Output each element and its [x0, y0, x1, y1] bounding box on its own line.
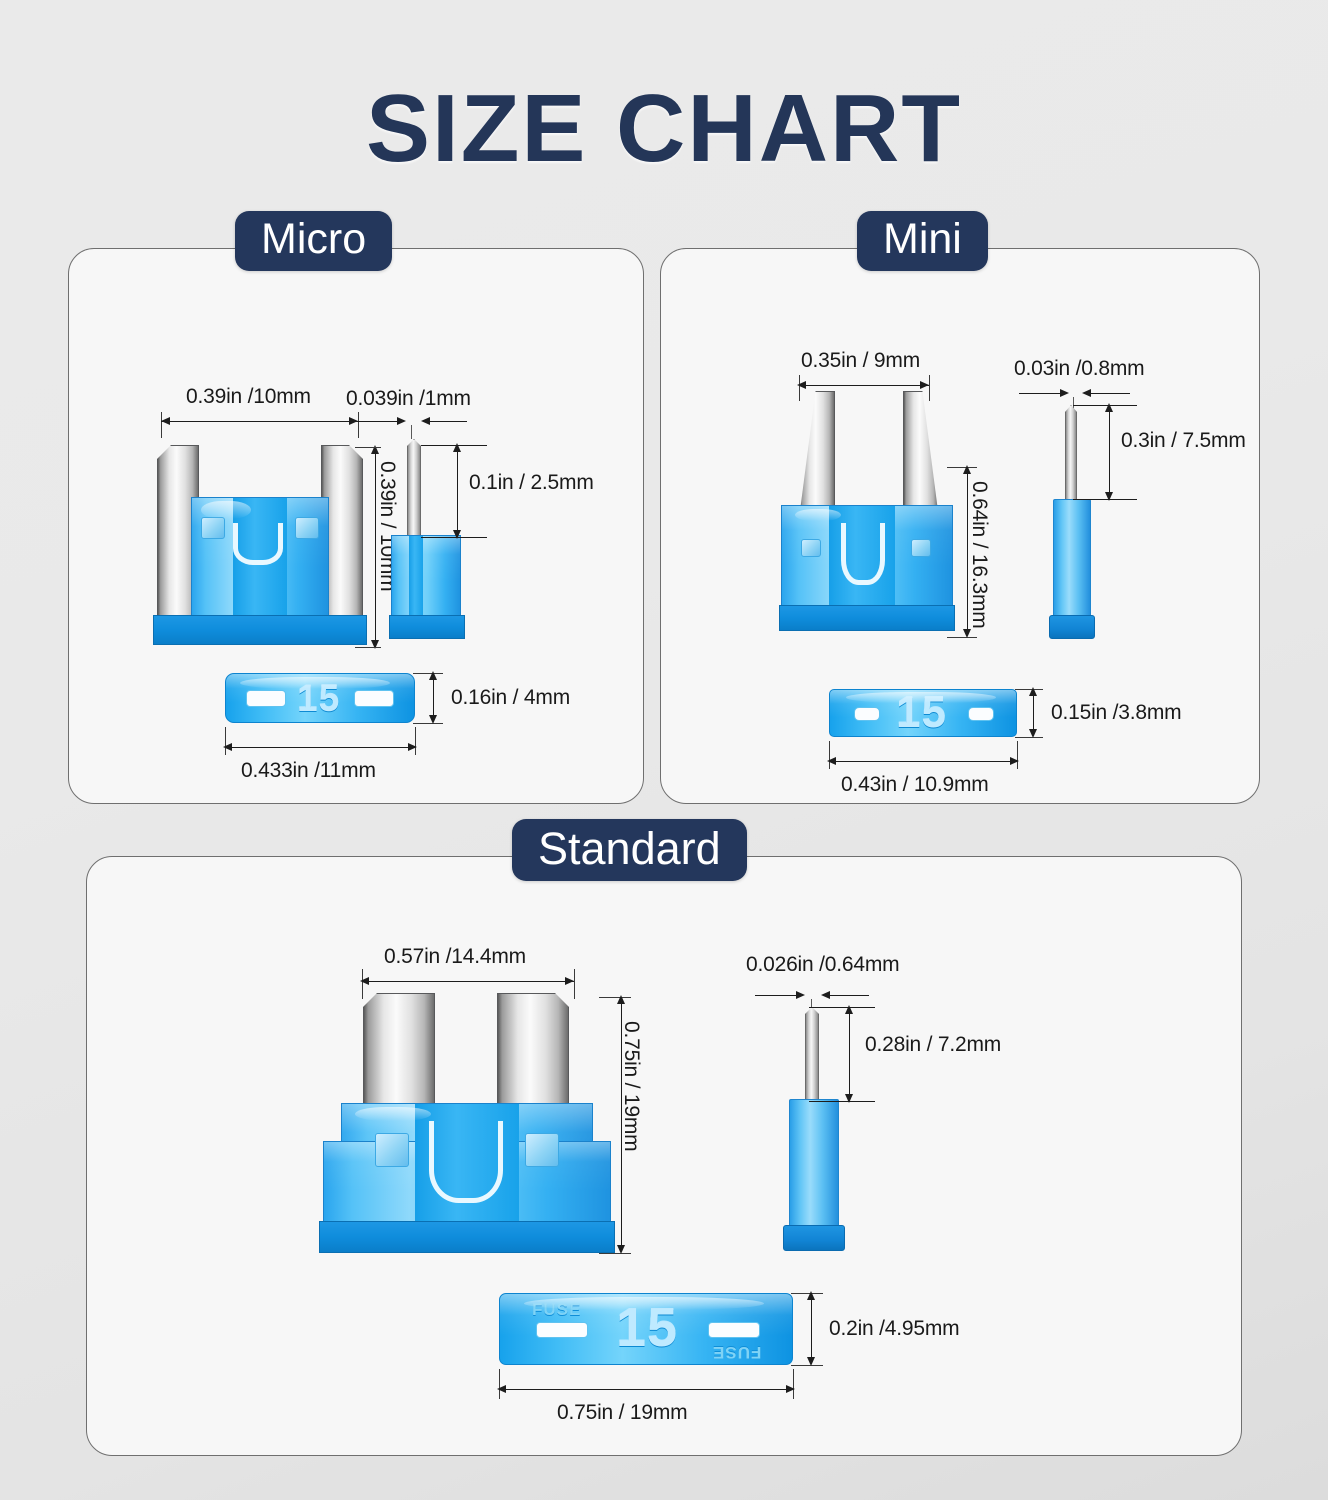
mini-fp-length-arrow-right: [1010, 757, 1019, 765]
micro-hole-right: [295, 517, 319, 539]
mini-fp-length-arrow-left: [827, 757, 836, 765]
standard-blade-length-label: 0.28in / 7.2mm: [865, 1033, 1001, 1057]
standard-side-base: [783, 1225, 845, 1251]
micro-fp-width-arrow-up: [429, 671, 437, 680]
mini-rating-text: 15: [896, 690, 947, 736]
mini-blade-length-rule: [1109, 407, 1110, 497]
micro-fp-length-label: 0.433in /11mm: [241, 759, 376, 783]
mini-fuse-element: [841, 523, 885, 585]
mini-fp-width-arrow-up: [1029, 687, 1037, 696]
mini-side-body: [1053, 499, 1091, 619]
standard-side-blade: [805, 1007, 819, 1105]
panel-mini-badge: Mini: [857, 211, 988, 271]
micro-blade-length-arrow-down: [453, 530, 461, 539]
micro-top-slot-right: [354, 690, 394, 707]
micro-fp-length-arrow-right: [408, 743, 417, 751]
mini-fp-length-rule: [831, 761, 1015, 762]
mini-width-arrow-left: [797, 381, 806, 389]
micro-fuse-side-view: [389, 439, 479, 649]
micro-side-blade: [407, 439, 421, 543]
micro-width-arrow-left: [161, 417, 170, 425]
micro-fp-width-arrow-down: [429, 715, 437, 724]
standard-fp-length-tick-right: [793, 1369, 794, 1399]
mini-side-base: [1049, 615, 1095, 639]
standard-fp-length-arrow-right: [786, 1385, 795, 1393]
standard-height-arrow-up: [617, 995, 625, 1004]
mini-top-slot-right: [968, 707, 994, 721]
standard-rating-text: 15: [616, 1300, 678, 1356]
micro-fp-width-label: 0.16in / 4mm: [451, 686, 570, 710]
mini-width-label: 0.35in / 9mm: [801, 349, 920, 373]
micro-thickness-arrow-in-left: [397, 417, 406, 425]
standard-top-slot-left: [536, 1322, 588, 1338]
standard-fuse-element: [429, 1121, 503, 1203]
mini-height-arrow-down: [963, 629, 971, 638]
mini-thickness-rule-left: [1019, 393, 1063, 394]
standard-thickness-arrow-in-left: [796, 991, 805, 999]
mini-height-label: 0.64in / 16.3mm: [967, 481, 991, 629]
mini-base: [779, 605, 955, 631]
standard-hole-right: [525, 1133, 559, 1167]
mini-thickness-rule-right: [1086, 393, 1130, 394]
micro-blade-length-arrow-up: [453, 443, 461, 452]
standard-fuse-front-view: [319, 993, 619, 1259]
mini-blade-thickness-label: 0.03in /0.8mm: [1014, 357, 1144, 381]
micro-base: [153, 615, 367, 645]
standard-fp-width-arrow-down: [807, 1357, 815, 1366]
panel-micro: Micro 0.39in /10mm 0.39in / 10mm 0.039in: [68, 248, 644, 804]
size-chart-page: SIZE CHART Micro 0.39in /10mm 0.39in / 1: [0, 0, 1328, 1500]
panel-micro-badge: Micro: [235, 211, 392, 271]
standard-thickness-arrow-in-right: [821, 991, 830, 999]
micro-blade-length-label: 0.1in / 2.5mm: [469, 471, 594, 495]
standard-fp-length-label: 0.75in / 19mm: [557, 1401, 687, 1425]
mini-thickness-arrow-in-left: [1060, 389, 1069, 397]
micro-fp-width-tick-bottom: [413, 723, 443, 724]
standard-fp-width-rule: [811, 1295, 812, 1364]
mini-height-tick-top: [947, 467, 977, 468]
micro-thickness-rule-left: [357, 421, 399, 422]
standard-blade-length-ext-bottom: [809, 1101, 875, 1102]
mini-blade-right: [903, 391, 939, 513]
micro-fp-length-rule: [227, 747, 413, 748]
micro-height-tick-bottom: [355, 647, 381, 648]
mini-side-blade: [1065, 405, 1077, 505]
micro-blade-length-rule: [457, 447, 458, 535]
page-title: SIZE CHART: [0, 74, 1328, 184]
panel-mini: Mini 0.35in / 9mm 0.64in / 16.3mm 0.03in: [660, 248, 1260, 804]
micro-thickness-extension: [411, 425, 412, 439]
micro-fp-length-arrow-left: [223, 743, 232, 751]
standard-imprint-bottom: FUSE: [712, 1342, 761, 1362]
mini-hole-left: [801, 539, 821, 557]
standard-width-arrow-right: [565, 977, 574, 985]
mini-width-rule: [799, 385, 929, 386]
micro-fp-width-tick-top: [413, 673, 443, 674]
standard-blade-length-arrow-down: [845, 1094, 853, 1103]
micro-top-view: 15: [225, 673, 415, 723]
standard-thickness-rule-left: [755, 995, 799, 996]
mini-fp-length-label: 0.43in / 10.9mm: [841, 773, 989, 797]
micro-rating-text: 15: [297, 680, 340, 718]
panel-standard: Standard 0.57in /14.4mm 0.75in / 19mm: [86, 856, 1242, 1456]
standard-top-view: 15 FUSE FUSE: [499, 1293, 793, 1365]
standard-width-label: 0.57in /14.4mm: [384, 945, 526, 969]
standard-fp-length-tick-left: [499, 1369, 500, 1399]
standard-fp-length-arrow-left: [497, 1385, 506, 1393]
standard-height-tick-bottom: [599, 1253, 631, 1254]
mini-fuse-side-view: [1039, 397, 1129, 641]
mini-height-tick-bottom: [947, 637, 977, 638]
panel-standard-badge: Standard: [512, 819, 747, 881]
mini-blade-length-label: 0.3in / 7.5mm: [1121, 429, 1246, 453]
mini-blade-left: [799, 391, 835, 513]
standard-fp-width-label: 0.2in /4.95mm: [829, 1317, 959, 1341]
mini-blade-length-arrow-up: [1105, 403, 1113, 412]
micro-height-tick-top: [355, 447, 381, 448]
micro-blade-thickness-label: 0.039in /1mm: [346, 387, 471, 411]
standard-height-tick-top: [599, 997, 631, 998]
mini-top-slot-left: [854, 707, 880, 721]
mini-fp-width-label: 0.15in /3.8mm: [1051, 701, 1181, 725]
standard-imprint-top: FUSE: [532, 1300, 581, 1320]
mini-fuse-front-view: [779, 391, 959, 641]
micro-side-base: [389, 615, 465, 639]
mini-height-arrow-up: [963, 465, 971, 474]
micro-side-core: [409, 536, 423, 620]
mini-top-view: 15: [829, 689, 1017, 737]
mini-blade-length-arrow-down: [1105, 492, 1113, 501]
standard-width-arrow-left: [360, 977, 369, 985]
micro-side-body: [391, 535, 461, 621]
standard-blade-length-rule: [849, 1009, 850, 1099]
standard-blade-length-arrow-up: [845, 1005, 853, 1014]
mini-thickness-arrow-in-right: [1082, 389, 1091, 397]
micro-width-tick-right: [358, 412, 359, 438]
standard-base: [319, 1221, 615, 1253]
standard-width-rule: [363, 981, 574, 982]
standard-fp-length-rule: [501, 1389, 791, 1390]
standard-blade-length-ext-top: [809, 1007, 875, 1008]
micro-top-slot-left: [246, 690, 286, 707]
mini-fp-width-arrow-down: [1029, 729, 1037, 738]
micro-hole-left: [201, 517, 225, 539]
micro-thickness-arrow-in-right: [421, 417, 430, 425]
micro-width-label: 0.39in /10mm: [186, 385, 311, 409]
standard-top-slot-right: [708, 1322, 760, 1338]
micro-width-rule: [161, 421, 358, 422]
micro-fuse-element: [233, 523, 283, 565]
standard-height-label: 0.75in / 19mm: [619, 1021, 643, 1151]
standard-side-body: [789, 1099, 839, 1229]
micro-fuse-front-view: [149, 445, 371, 649]
standard-hole-left: [375, 1133, 409, 1167]
mini-width-arrow-right: [920, 381, 929, 389]
micro-width-tick-left: [161, 412, 162, 438]
standard-fp-width-arrow-up: [807, 1291, 815, 1300]
micro-thickness-rule-right: [425, 421, 467, 422]
standard-thickness-rule-right: [825, 995, 869, 996]
standard-height-arrow-down: [617, 1245, 625, 1254]
mini-hole-right: [911, 539, 931, 557]
standard-blade-thickness-label: 0.026in /0.64mm: [746, 953, 899, 977]
